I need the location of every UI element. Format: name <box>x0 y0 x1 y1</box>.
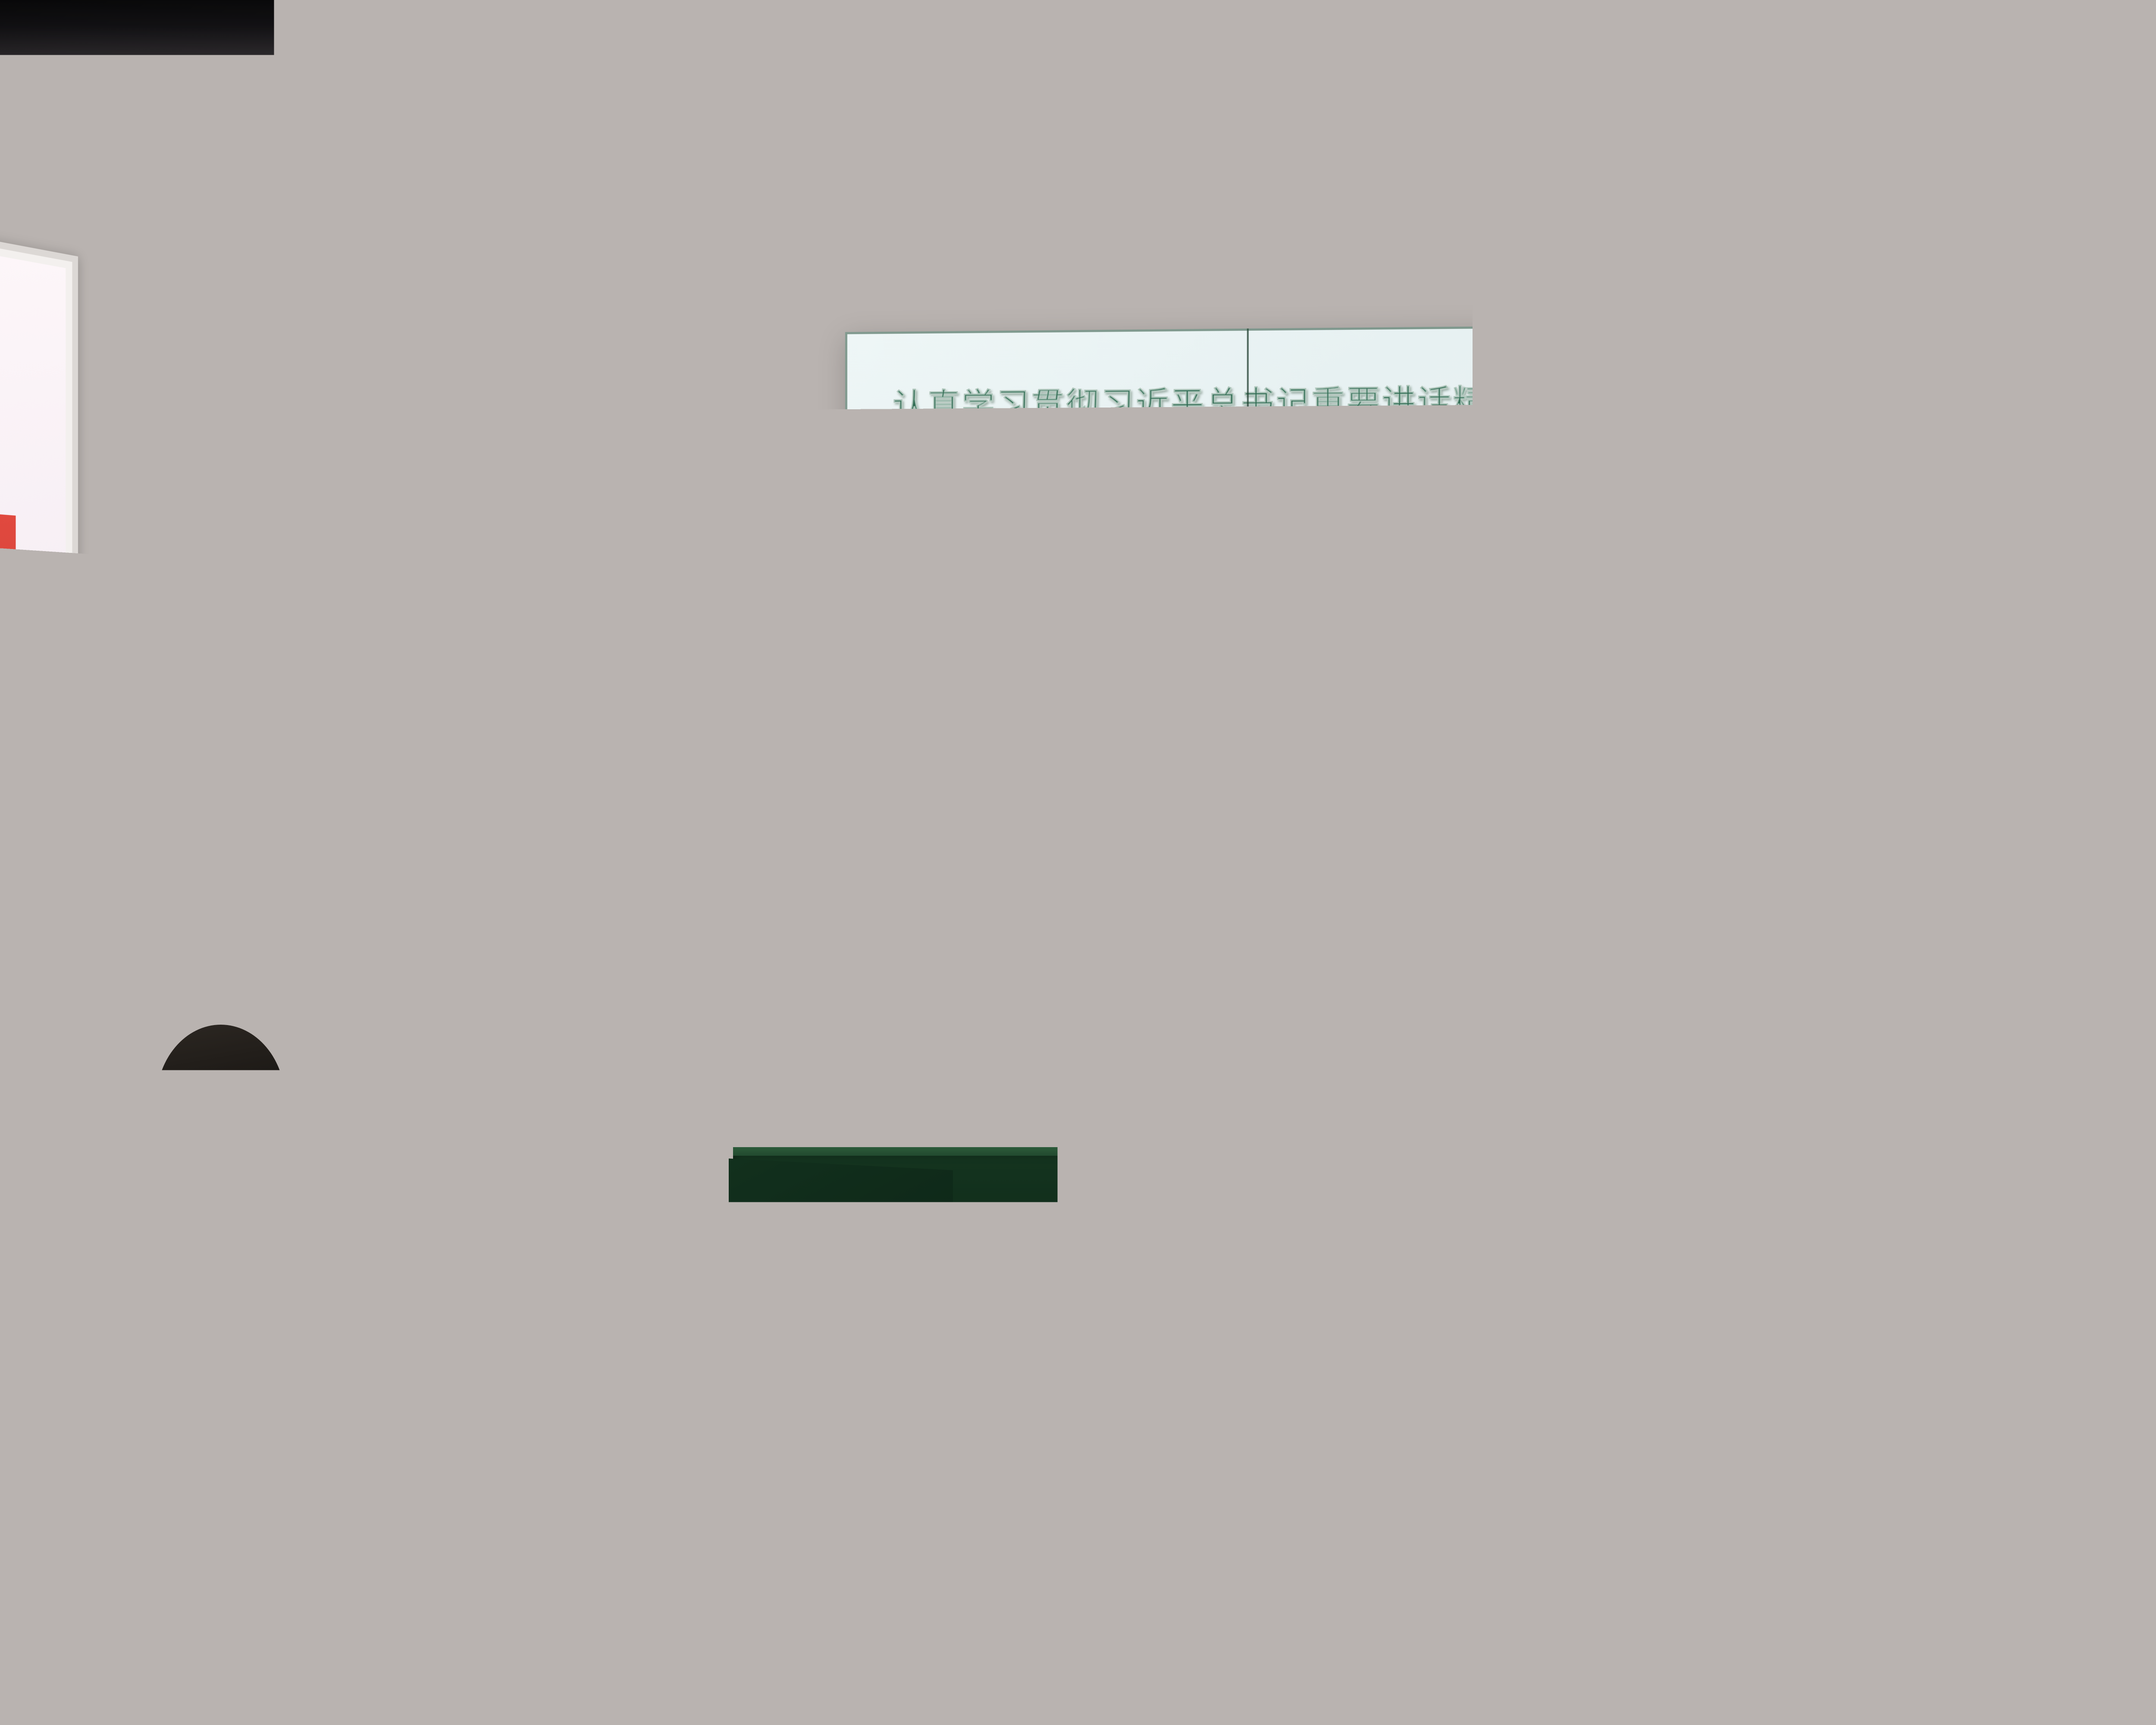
tiananmen-gate-icon <box>468 795 557 844</box>
hair-tie-icon-3 <box>1355 1292 1369 1307</box>
conference-room-photo: 学习贯彻党的十九大精神 全面建设中国特色社会主义 织 坚定理想信念 严遵党章党规… <box>0 0 2156 1725</box>
poster-gold-ring <box>460 565 565 659</box>
left-display-red-band <box>0 513 16 773</box>
red-folders[interactable] <box>537 989 649 1060</box>
poster-card-body: 充分发挥社区党组织的阵地作用，让广大党员干部学习有阵地、活动有载体，形成常态化的… <box>431 398 586 453</box>
chair-foreground-center[interactable] <box>1181 1466 1449 1725</box>
hair-tie-icon-1 <box>1345 1275 1360 1289</box>
hair-tie-icon-2 <box>1374 1269 1388 1283</box>
poster-illustration <box>429 740 592 885</box>
huabiao-column-icon <box>451 779 462 844</box>
cabinet-handle-right[interactable] <box>482 1130 487 1177</box>
ceiling-soffit <box>595 0 2156 99</box>
face-mask-icon <box>914 1307 966 1354</box>
poster-white-card: 新 党 / 员 / 教 / 育 / 阵 / 地 充分发挥社区党组织的阵地作用，让… <box>420 322 592 885</box>
chair-foreground-right[interactable] <box>1932 1436 2156 1725</box>
ceiling-downlight-icon <box>561 45 638 75</box>
poster-headline: 坚定理想信念 严遵党章党规 <box>412 223 594 246</box>
party-wall-poster: 坚定理想信念 严遵党章党规 拓展开展党员教育工作，坚持教育在先、宣传在先、预防在… <box>401 121 599 926</box>
poster-sun-glow <box>472 322 554 354</box>
left-wall-gold-strip <box>91 293 103 966</box>
chair-foreground-left[interactable] <box>0 1466 276 1725</box>
left-display-character: 织 <box>0 971 5 1041</box>
attendee-center <box>655 1121 1138 1725</box>
cabinet-handle-left[interactable] <box>448 1130 453 1177</box>
poster-card-subtitle: 党 / 员 / 教 / 育 / 阵 / 地 <box>489 361 590 374</box>
